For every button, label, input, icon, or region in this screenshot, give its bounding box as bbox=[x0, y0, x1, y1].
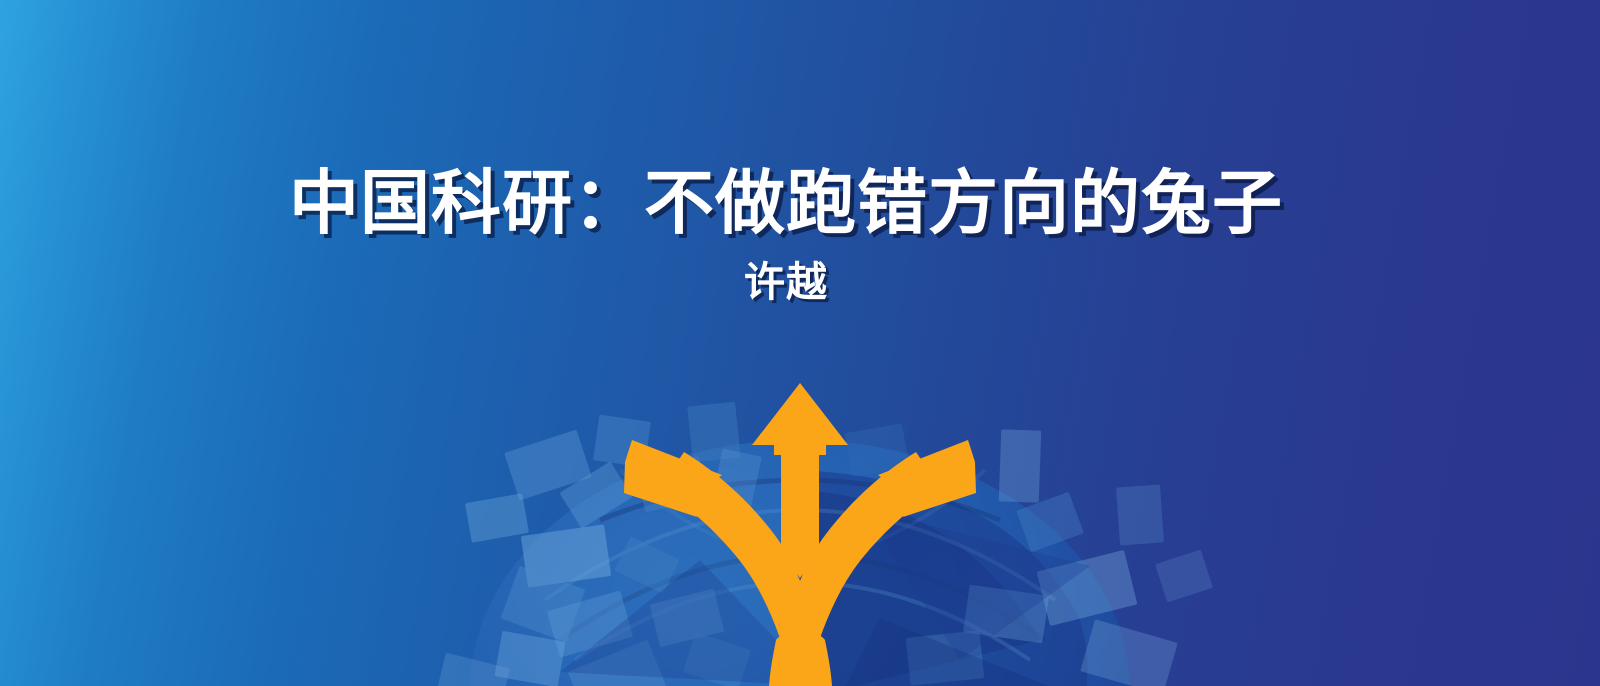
left-arrow-up-left bbox=[624, 440, 822, 686]
globe-wedges bbox=[560, 508, 1090, 686]
globe-meridian-arcs-dark bbox=[560, 480, 1045, 640]
title-slide: 中国科研：不做跑错方向的兔子 许越 bbox=[0, 0, 1600, 686]
center-arrow-up bbox=[752, 383, 848, 578]
right-arrow-up-right bbox=[778, 440, 976, 686]
title-block: 中国科研：不做跑错方向的兔子 许越 bbox=[0, 168, 1572, 304]
background-artwork bbox=[0, 0, 1600, 686]
page-title: 中国科研：不做跑错方向的兔子 bbox=[0, 168, 1572, 239]
globe-meridian-arcs bbox=[545, 470, 1055, 660]
author-subtitle: 许越 bbox=[0, 261, 1572, 304]
globe-body bbox=[470, 440, 1130, 686]
three-way-arrow-graphic bbox=[0, 0, 1600, 686]
globe-shards bbox=[436, 402, 1213, 686]
arrow-trunk bbox=[769, 631, 832, 686]
